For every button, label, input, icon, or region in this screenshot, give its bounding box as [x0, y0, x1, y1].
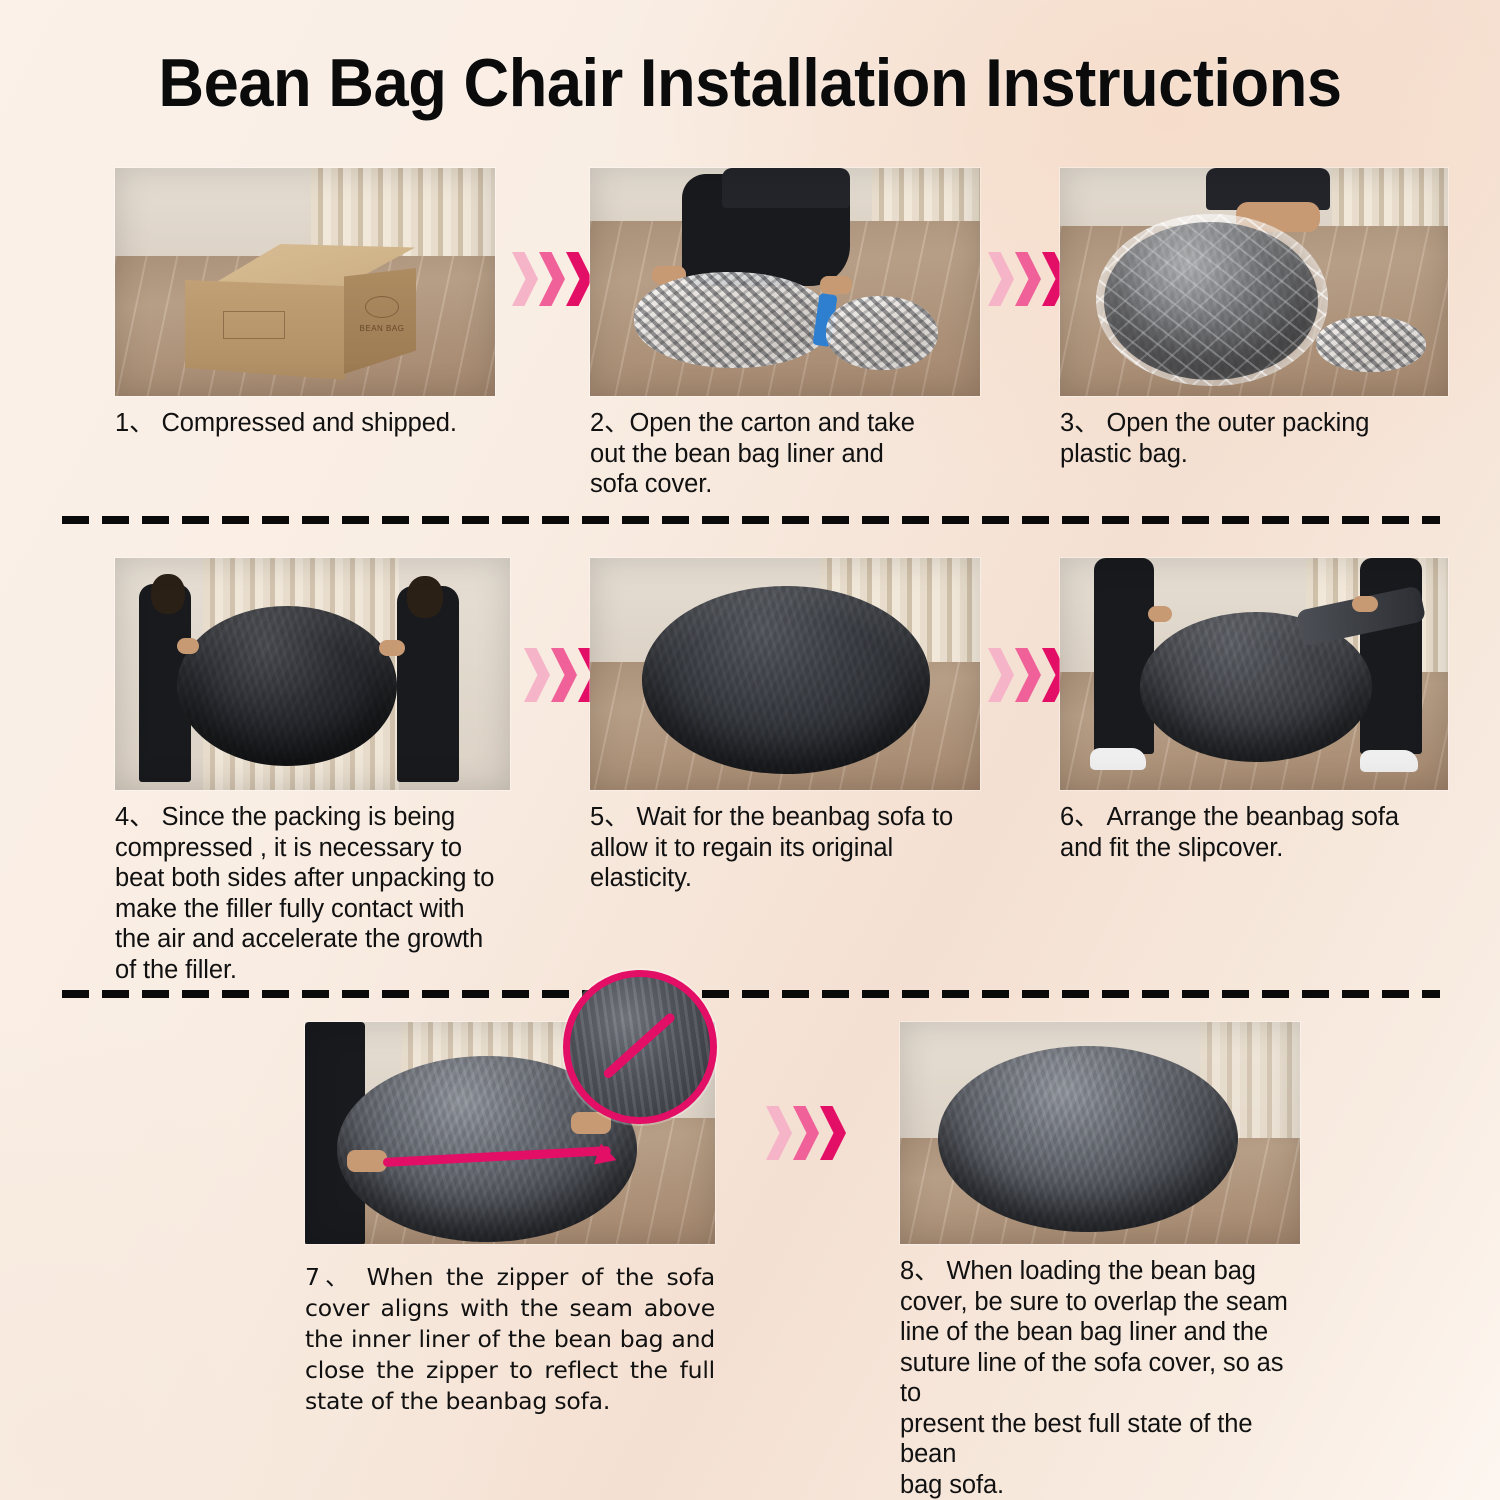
- person-left-hand: [177, 638, 199, 654]
- chevron-right-icon-2: [793, 1106, 819, 1160]
- step-caption-1: 1、 Compressed and shipped.: [115, 408, 495, 439]
- person-left-hand: [1148, 606, 1172, 622]
- bean-bag-liner-black: [177, 606, 397, 766]
- step-caption-3: 3、 Open the outer packing plastic bag.: [1060, 408, 1448, 469]
- person-right-head: [407, 576, 443, 618]
- chevron-right-icon-2: [539, 252, 565, 306]
- step-card-3: 3、 Open the outer packing plastic bag.: [1060, 168, 1448, 469]
- section-divider-2: [62, 990, 1440, 998]
- carton-shipping-label: [223, 311, 285, 339]
- finished-bean-bag-sofa: [938, 1046, 1238, 1232]
- bean-bag-liner-expanded: [642, 586, 930, 774]
- step-card-6: 6、 Arrange the beanbag sofa and fit the …: [1060, 558, 1448, 863]
- person-left-body: [1094, 558, 1154, 754]
- arrow-step-5-to-6: [988, 648, 1069, 702]
- step-card-8: 8、 When loading the bean bag cover, be s…: [900, 1022, 1300, 1500]
- chevron-right-icon-1: [524, 648, 550, 702]
- chevron-right-icon-3: [820, 1106, 846, 1160]
- vacuum-bag-small: [826, 296, 938, 370]
- person-right-hand: [1352, 596, 1378, 612]
- chevron-right-icon-2: [1015, 252, 1041, 306]
- step-card-7: 7、 When the zipper of the sofa cover ali…: [305, 1022, 715, 1417]
- step-card-2: 2、Open the carton and take out the bean …: [590, 168, 980, 500]
- step-caption-8: 8、 When loading the bean bag cover, be s…: [900, 1256, 1300, 1500]
- step-image-4: [115, 558, 510, 790]
- step-image-8: [900, 1022, 1300, 1244]
- chevron-right-icon-1: [512, 252, 538, 306]
- step-card-4: 4、 Since the packing is being compressed…: [115, 558, 510, 985]
- arrow-step-7-to-8: [766, 1106, 847, 1160]
- step-image-6: [1060, 558, 1448, 790]
- vacuum-bag-large: [634, 272, 834, 368]
- person-torso: [722, 168, 850, 208]
- step-caption-6: 6、 Arrange the beanbag sofa and fit the …: [1060, 802, 1448, 863]
- person-left-head: [151, 574, 185, 614]
- flat-filler-bag: [1316, 316, 1426, 372]
- step-card-5: 5、 Wait for the beanbag sofa to allow it…: [590, 558, 980, 894]
- person-right-shoe: [1360, 750, 1418, 772]
- step-image-3: [1060, 168, 1448, 396]
- chevron-right-icon-1: [988, 252, 1014, 306]
- carton-beanbag-logo-icon: [365, 296, 399, 318]
- step-image-5: [590, 558, 980, 790]
- person-left-hand: [347, 1150, 387, 1172]
- chevron-right-icon-3: [566, 252, 592, 306]
- person-left-shoe: [1090, 748, 1146, 770]
- page-title: Bean Bag Chair Installation Instructions: [53, 44, 1448, 122]
- step-caption-5: 5、 Wait for the beanbag sofa to allow it…: [590, 802, 980, 894]
- step-caption-2: 2、Open the carton and take out the bean …: [590, 408, 980, 500]
- step-caption-4: 4、 Since the packing is being compressed…: [115, 802, 510, 985]
- arrow-step-1-to-2: [512, 252, 593, 306]
- step-card-1: BEAN BAG 1、 Compressed and shipped.: [115, 168, 495, 439]
- chevron-right-icon-2: [1015, 648, 1041, 702]
- outer-plastic-bag-overlay: [1096, 214, 1328, 386]
- section-divider-1: [62, 516, 1440, 524]
- step-image-1: BEAN BAG: [115, 168, 495, 396]
- person-right-hand: [379, 640, 405, 656]
- carton-logo-text: BEAN BAG: [359, 324, 405, 333]
- step-image-2: [590, 168, 980, 396]
- step-image-7: [305, 1022, 715, 1244]
- step-caption-7: 7、 When the zipper of the sofa cover ali…: [305, 1262, 715, 1417]
- chevron-right-icon-2: [551, 648, 577, 702]
- arrow-step-2-to-3: [988, 252, 1069, 306]
- chevron-right-icon-1: [766, 1106, 792, 1160]
- chevron-right-icon-1: [988, 648, 1014, 702]
